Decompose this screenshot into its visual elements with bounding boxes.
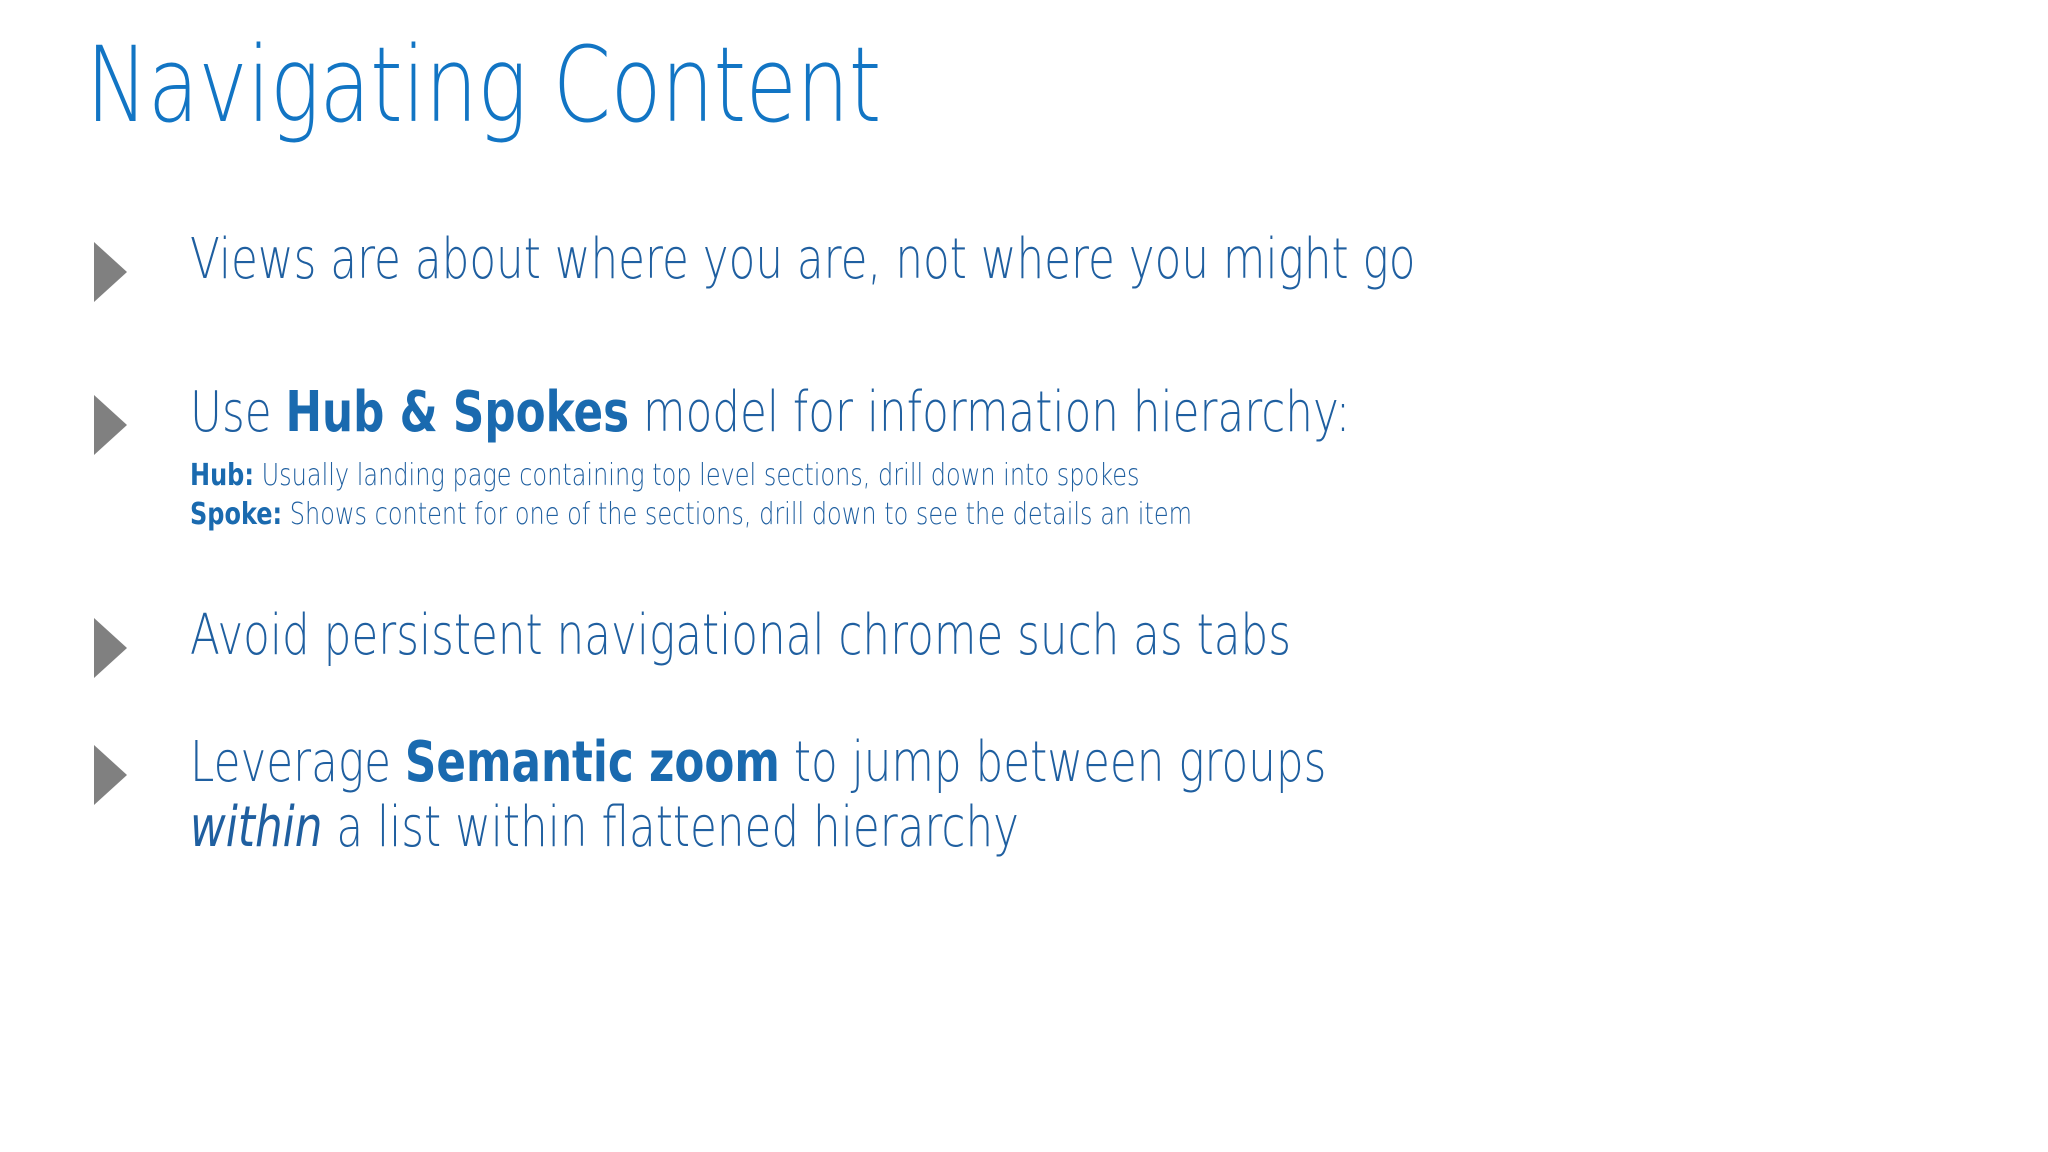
text-run-regular: Use [190, 380, 285, 445]
list-item-text: Leverage Semantic zoom to jump between g… [190, 731, 1344, 861]
list-item: Avoid persistent navigational chrome suc… [86, 604, 1966, 669]
text-run-regular: to jump between groups [780, 730, 1326, 795]
triangle-right-icon [94, 395, 127, 455]
list-item-text: Views are about where you are, not where… [190, 228, 1963, 293]
sub-line-spoke: Spoke: Shows content for one of the sect… [190, 495, 1966, 534]
text-run-regular: Views are about where you are, not where… [190, 227, 1415, 292]
list-item-text: Use Hub & Spokes model for information h… [190, 381, 1963, 446]
text-run-regular: a list within flattened hierarchy [322, 795, 1018, 860]
text-run-regular: Usually landing page containing top leve… [254, 458, 1140, 493]
list-item: Use Hub & Spokes model for information h… [86, 381, 1966, 534]
text-run-bold: Spoke: [190, 497, 282, 532]
text-run-bold: Hub: [190, 458, 254, 493]
text-run-regular: Leverage [190, 730, 405, 795]
triangle-right-icon [94, 242, 127, 302]
sub-line-hub: Hub: Usually landing page containing top… [190, 456, 1966, 495]
text-run-italic: within [190, 795, 322, 860]
text-run-regular: Avoid persistent navigational chrome suc… [190, 603, 1291, 668]
triangle-right-icon [94, 618, 127, 678]
triangle-right-icon [94, 745, 127, 805]
text-run-bold: Semantic zoom [405, 730, 780, 795]
text-run-regular: Shows content for one of the sections, d… [282, 497, 1192, 532]
bullet-list: Views are about where you are, not where… [86, 228, 1966, 861]
slide-canvas: Navigating Content Views are about where… [0, 0, 2048, 1152]
text-run-regular: model for information hierarchy: [629, 380, 1350, 445]
list-item-text: Avoid persistent navigational chrome suc… [190, 604, 1963, 669]
text-run-bold: Hub & Spokes [285, 380, 629, 445]
page-title: Navigating Content [86, 24, 1526, 147]
list-item: Views are about where you are, not where… [86, 228, 1966, 293]
list-item: Leverage Semantic zoom to jump between g… [86, 731, 1966, 861]
sub-line-group: Hub: Usually landing page containing top… [190, 456, 1966, 534]
